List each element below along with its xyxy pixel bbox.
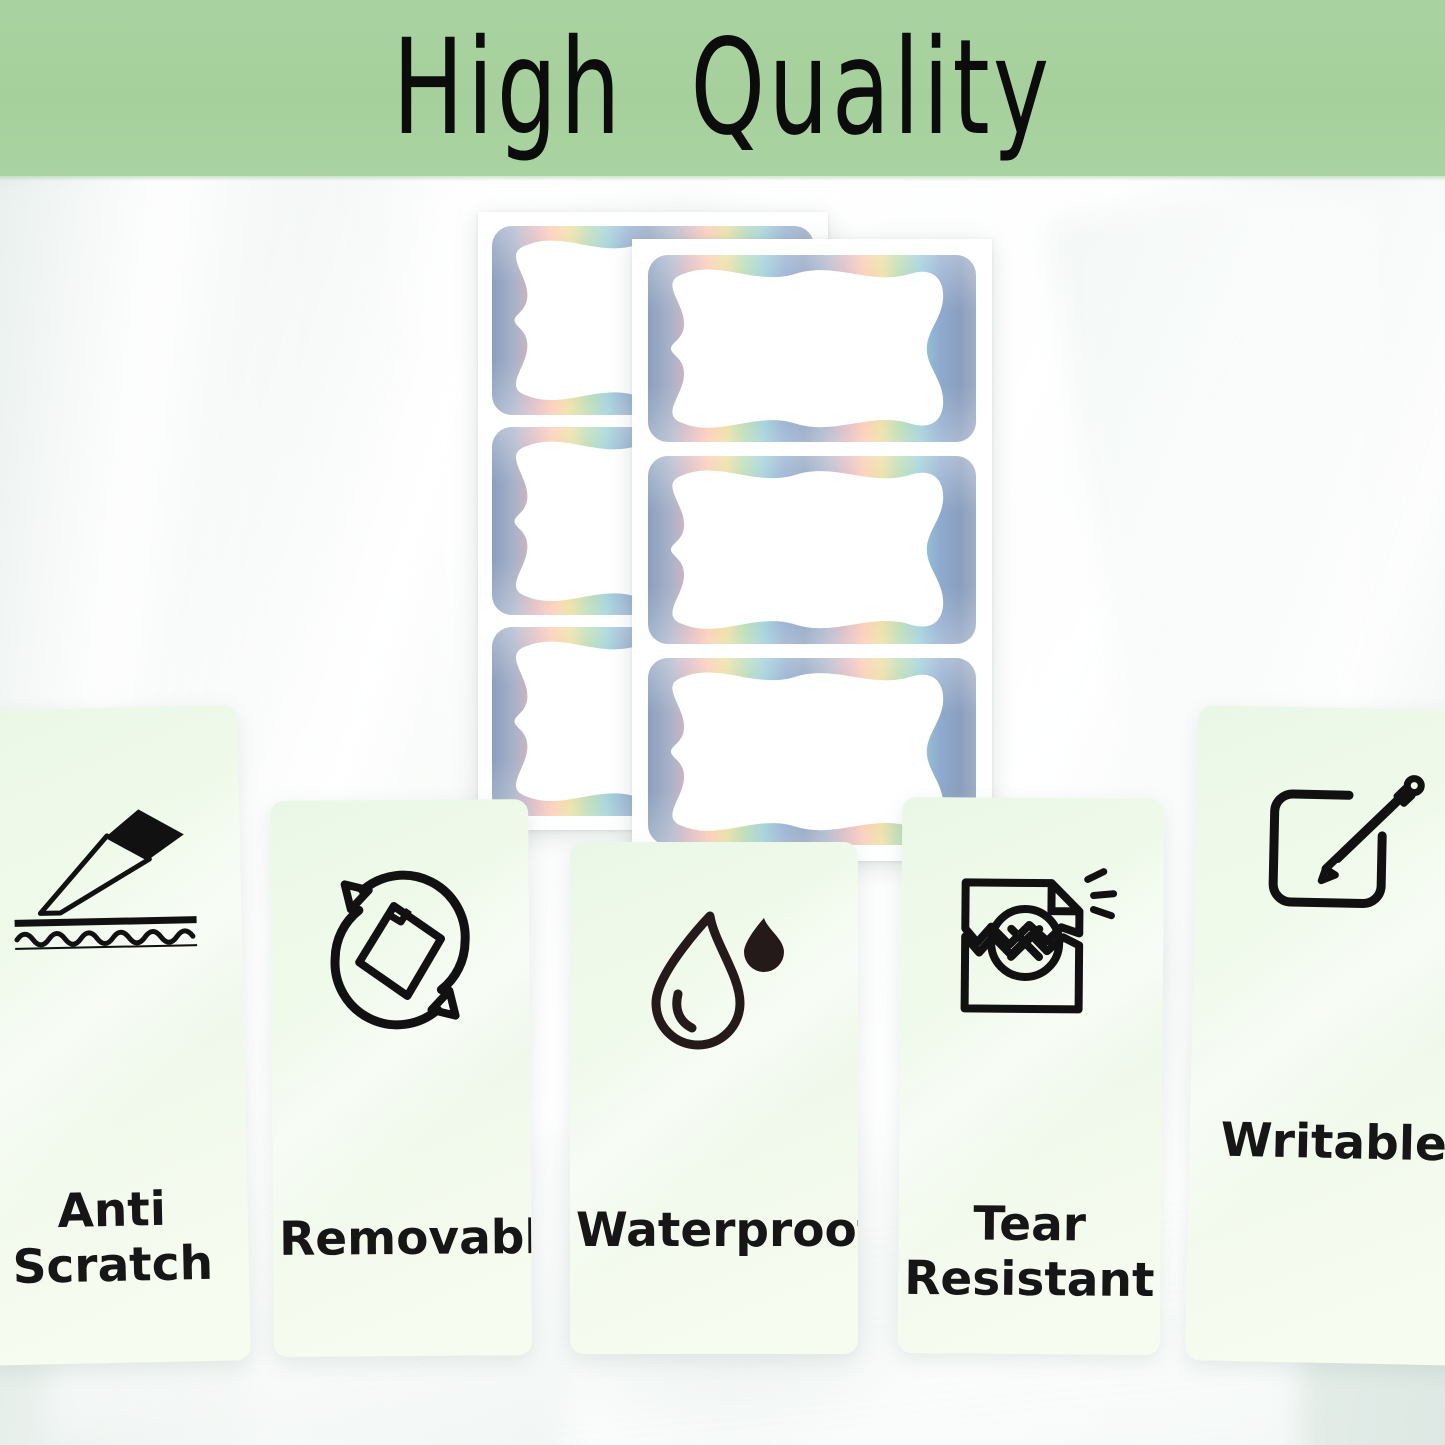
feature-card-row: Anti Scratch Removable bbox=[0, 690, 1445, 1370]
holographic-label bbox=[648, 255, 976, 442]
icon-container bbox=[1193, 705, 1445, 1001]
wavy-label-window bbox=[648, 255, 976, 442]
holographic-label bbox=[648, 456, 976, 643]
icon-container bbox=[570, 842, 858, 1114]
feature-card-waterproof[interactable]: Waterproof bbox=[570, 842, 858, 1354]
feature-label: Waterproof bbox=[570, 1204, 858, 1259]
banner-shadow bbox=[0, 176, 1445, 181]
product-infographic: High Quality bbox=[0, 0, 1445, 1445]
feature-label: Anti Scratch bbox=[0, 1181, 249, 1296]
feature-card-tear-resistant[interactable]: Tear Resistant bbox=[898, 797, 1165, 1355]
feature-label: Writable bbox=[1189, 1113, 1445, 1174]
wavy-label-window bbox=[648, 456, 976, 643]
feature-label: Removable bbox=[273, 1211, 531, 1267]
feature-card-anti-scratch[interactable]: Anti Scratch bbox=[0, 705, 251, 1366]
page-title: High Quality bbox=[393, 22, 1053, 154]
icon-container bbox=[270, 799, 530, 1101]
pencil-square-edit-icon bbox=[1254, 771, 1425, 934]
label-in-refresh-loop-icon bbox=[315, 865, 486, 1034]
feature-card-writable[interactable]: Writable bbox=[1185, 705, 1445, 1366]
blade-over-surface-icon bbox=[0, 796, 211, 950]
header-banner: High Quality bbox=[0, 0, 1445, 176]
icon-container bbox=[0, 705, 244, 1041]
torn-paper-no-tear-icon bbox=[942, 862, 1121, 1034]
feature-card-removable[interactable]: Removable bbox=[270, 799, 532, 1357]
water-droplet-icon bbox=[628, 898, 800, 1058]
icon-container bbox=[900, 797, 1165, 1099]
feature-label: Tear Resistant bbox=[898, 1197, 1161, 1308]
